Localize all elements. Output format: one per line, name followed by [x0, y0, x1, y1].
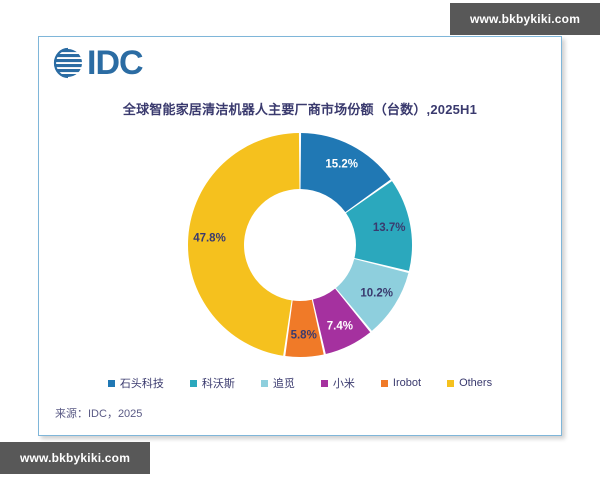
legend-swatch [381, 380, 388, 387]
legend-swatch [321, 380, 328, 387]
globe-icon [51, 46, 85, 80]
legend-item[interactable]: 科沃斯 [190, 375, 235, 391]
chart-legend: 石头科技科沃斯追觅小米IrobotOthers [39, 375, 561, 391]
legend-swatch [108, 380, 115, 387]
donut-slice-label: 7.4% [327, 321, 353, 333]
watermark-bottom-left: www.bkbykiki.com [0, 442, 150, 474]
donut-slice-label: 13.7% [373, 222, 406, 234]
legend-label: 科沃斯 [202, 375, 235, 391]
legend-label: 石头科技 [120, 375, 164, 391]
donut-slice-label: 5.8% [291, 330, 317, 342]
donut-slice-label: 15.2% [325, 158, 358, 170]
legend-swatch [261, 380, 268, 387]
legend-item[interactable]: 石头科技 [108, 375, 164, 391]
idc-wordmark: IDC [87, 46, 143, 80]
legend-swatch [447, 380, 454, 387]
watermark-top-right: www.bkbykiki.com [450, 3, 600, 35]
donut-chart: 15.2%13.7%10.2%7.4%5.8%47.8% [39, 129, 561, 361]
legend-item[interactable]: 小米 [321, 375, 355, 391]
legend-item[interactable]: 追觅 [261, 375, 295, 391]
legend-label: 小米 [333, 375, 355, 391]
legend-item[interactable]: Irobot [381, 377, 421, 389]
idc-logo: IDC [51, 46, 143, 80]
donut-slices [188, 133, 412, 357]
legend-item[interactable]: Others [447, 377, 492, 389]
source-note: 来源：IDC，2025 [55, 405, 142, 421]
legend-label: Others [459, 377, 492, 389]
donut-slice-label: 10.2% [360, 287, 393, 299]
legend-label: Irobot [393, 377, 421, 389]
legend-swatch [190, 380, 197, 387]
chart-card: IDC 全球智能家居清洁机器人主要厂商市场份额（台数）,2025H1 15.2%… [38, 36, 562, 436]
chart-title: 全球智能家居清洁机器人主要厂商市场份额（台数）,2025H1 [39, 99, 561, 118]
legend-label: 追觅 [273, 375, 295, 391]
donut-slice-label: 47.8% [193, 233, 226, 245]
